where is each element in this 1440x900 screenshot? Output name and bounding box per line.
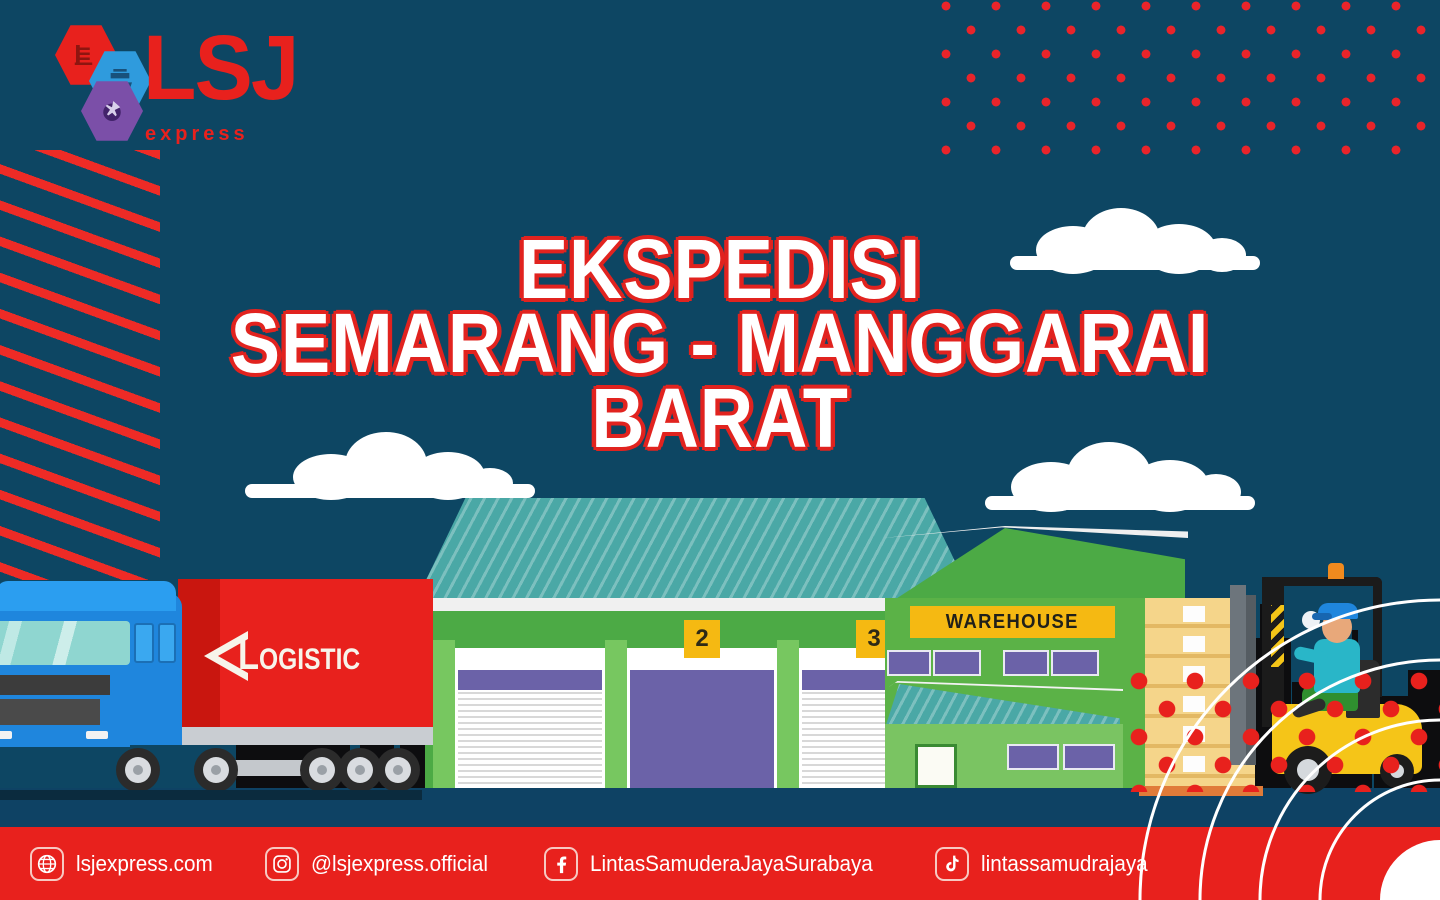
warehouse-window [1003, 650, 1049, 676]
tiktok-icon [935, 847, 969, 881]
instagram-icon [265, 847, 299, 881]
warehouse-window [1007, 744, 1059, 770]
warehouse-illustration: 2 3 WAREHOUSE [415, 498, 1205, 788]
warehouse-annex-door [915, 744, 957, 788]
globe-icon [30, 847, 64, 881]
delivery-truck-illustration: LOGISTIC [0, 575, 452, 800]
poster-canvas: EKSPEDISI SEMARANG - MANGGARAI BARAT 2 3… [0, 0, 1440, 900]
plane-hexagon-icon [81, 80, 143, 142]
warehouse-sign: WAREHOUSE [910, 606, 1115, 638]
warehouse-pillar [605, 640, 627, 788]
truck-wheel [116, 748, 160, 792]
footer-item-facebook[interactable]: LintasSamuderaJayaSurabaya [544, 847, 891, 881]
warehouse-window [1051, 650, 1099, 676]
footer-item-tiktok[interactable]: lintassamudrajaya [935, 847, 1158, 881]
social-footer-bar: lsjexpress.com @lsjexpress.official Lint… [0, 827, 1440, 900]
footer-label-facebook: LintasSamuderaJayaSurabaya [590, 851, 873, 877]
warehouse-window [887, 650, 931, 676]
footer-label-website: lsjexpress.com [76, 851, 213, 877]
truck-wheel [194, 748, 238, 792]
warehouse-window [1063, 744, 1115, 770]
footer-label-instagram: @lsjexpress.official [311, 851, 488, 877]
footer-item-website[interactable]: lsjexpress.com [30, 847, 221, 881]
title-line-2: SEMARANG - MANGGARAI [86, 302, 1353, 384]
brand-logo[interactable]: LSJ express [55, 18, 335, 158]
warehouse-sign-label: WAREHOUSE [946, 611, 1079, 634]
footer-label-tiktok: lintassamudrajaya [981, 851, 1148, 877]
bay-number-2: 2 [684, 620, 720, 658]
truck-windshield [0, 621, 130, 665]
truck-wheel [376, 748, 420, 792]
facebook-icon [544, 847, 578, 881]
logo-tagline: express [145, 123, 249, 146]
warehouse-main-roof [415, 498, 975, 603]
footer-item-instagram[interactable]: @lsjexpress.official [265, 847, 499, 881]
trailer-label-rest: OGISTIC [259, 643, 360, 676]
warehouse-window [933, 650, 981, 676]
trailer-logistic-label: LOGISTIC [238, 631, 360, 679]
red-dot-overlay-decoration [1130, 672, 1440, 792]
truck-headlight [0, 731, 12, 739]
warehouse-bay-2: 2 [627, 648, 777, 788]
warehouse-pillar [777, 640, 799, 788]
red-dot-pattern-decoration [940, 0, 1440, 160]
cloud-right-top [1010, 208, 1260, 270]
truck-headlight [86, 731, 108, 739]
warehouse-bay-1 [455, 648, 605, 788]
forklift-beacon-light [1328, 563, 1344, 579]
logo-wordmark: LSJ [143, 26, 298, 111]
trailer-label-initial: L [238, 631, 259, 678]
